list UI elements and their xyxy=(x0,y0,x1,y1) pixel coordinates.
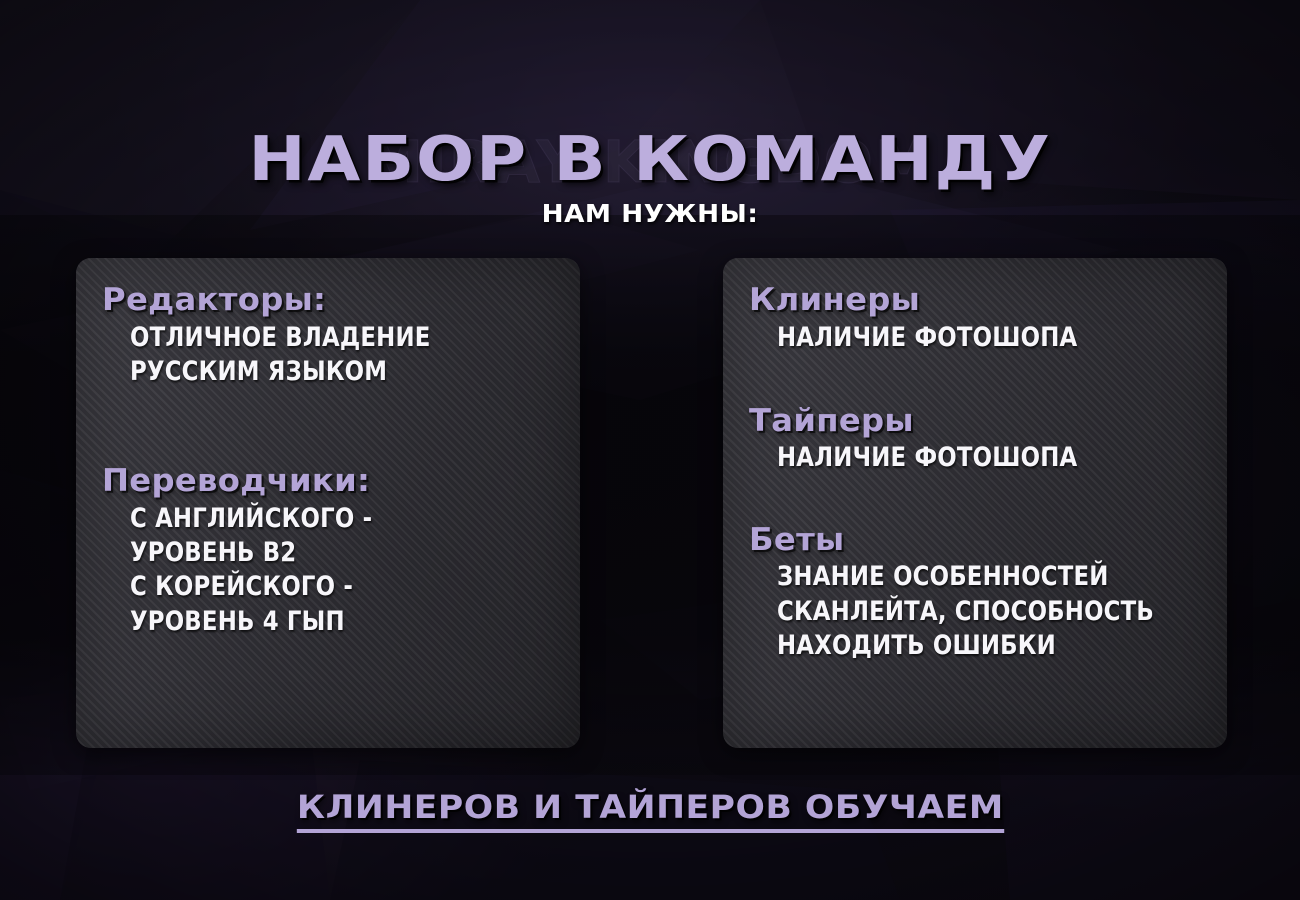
footer: КЛИНЕРОВ И ТАЙПЕРОВ ОБУЧАЕМ xyxy=(0,788,1300,833)
role-title: Тайперы xyxy=(749,403,1221,440)
role-title: Редакторы: xyxy=(102,282,574,319)
role-requirement: НАЛИЧИЕ ФОТОШОПА xyxy=(777,321,1177,355)
role-requirement: ЗНАНИЕ ОСОБЕННОСТЕЙ xyxy=(777,560,1177,594)
role-requirement: НАХОДИТЬ ОШИБКИ xyxy=(777,629,1177,663)
role-requirements-list: С АНГЛИЙСКОГО - УРОВЕНЬ B2 С КОРЕЙСКОГО … xyxy=(130,502,556,639)
role-group-typers: Тайперы НАЛИЧИЕ ФОТОШОПА xyxy=(741,403,1203,476)
role-requirements-list: НАЛИЧИЕ ФОТОШОПА xyxy=(777,441,1203,475)
role-group-betas: Беты ЗНАНИЕ ОСОБЕННОСТЕЙ СКАНЛЕЙТА, СПОС… xyxy=(741,522,1203,663)
role-group-translators: Переводчики: С АНГЛИЙСКОГО - УРОВЕНЬ B2 … xyxy=(94,463,556,639)
role-group-cleaners: Клинеры НАЛИЧИЕ ФОТОШОПА xyxy=(741,282,1203,355)
role-requirement: УРОВЕНЬ 4 ГЫП xyxy=(130,605,530,639)
role-requirement: ОТЛИЧНОЕ ВЛАДЕНИЕ xyxy=(130,321,530,355)
role-requirements-list: ОТЛИЧНОЕ ВЛАДЕНИЕ РУССКИМ ЯЗЫКОМ xyxy=(130,321,556,390)
role-requirements-list: НАЛИЧИЕ ФОТОШОПА xyxy=(777,321,1203,355)
role-requirement: НАЛИЧИЕ ФОТОШОПА xyxy=(777,441,1177,475)
footer-note: КЛИНЕРОВ И ТАЙПЕРОВ ОБУЧАЕМ xyxy=(297,788,1004,833)
page-subtitle: НАМ НУЖНЫ: xyxy=(0,199,1300,228)
roles-card-right: Клинеры НАЛИЧИЕ ФОТОШОПА Тайперы НАЛИЧИЕ… xyxy=(723,258,1227,748)
role-requirement: СКАНЛЕЙТА, СПОСОБНОСТЬ xyxy=(777,595,1177,629)
role-title: Переводчики: xyxy=(102,463,574,500)
poster-root: MIRAY KINGDOM НАБОР В КОМАНДУ НАМ НУЖНЫ:… xyxy=(0,0,1300,900)
roles-card-left: Редакторы: ОТЛИЧНОЕ ВЛАДЕНИЕ РУССКИМ ЯЗЫ… xyxy=(76,258,580,748)
role-requirement: РУССКИМ ЯЗЫКОМ xyxy=(130,355,530,389)
role-requirement: УРОВЕНЬ B2 xyxy=(130,536,530,570)
role-group-editors: Редакторы: ОТЛИЧНОЕ ВЛАДЕНИЕ РУССКИМ ЯЗЫ… xyxy=(94,282,556,389)
page-title: НАБОР В КОМАНДУ xyxy=(0,123,1300,195)
role-title: Клинеры xyxy=(749,282,1221,319)
role-title: Беты xyxy=(749,522,1221,559)
role-requirement: С АНГЛИЙСКОГО - xyxy=(130,502,530,536)
role-requirements-list: ЗНАНИЕ ОСОБЕННОСТЕЙ СКАНЛЕЙТА, СПОСОБНОС… xyxy=(777,560,1203,663)
role-requirement: С КОРЕЙСКОГО - xyxy=(130,570,530,604)
